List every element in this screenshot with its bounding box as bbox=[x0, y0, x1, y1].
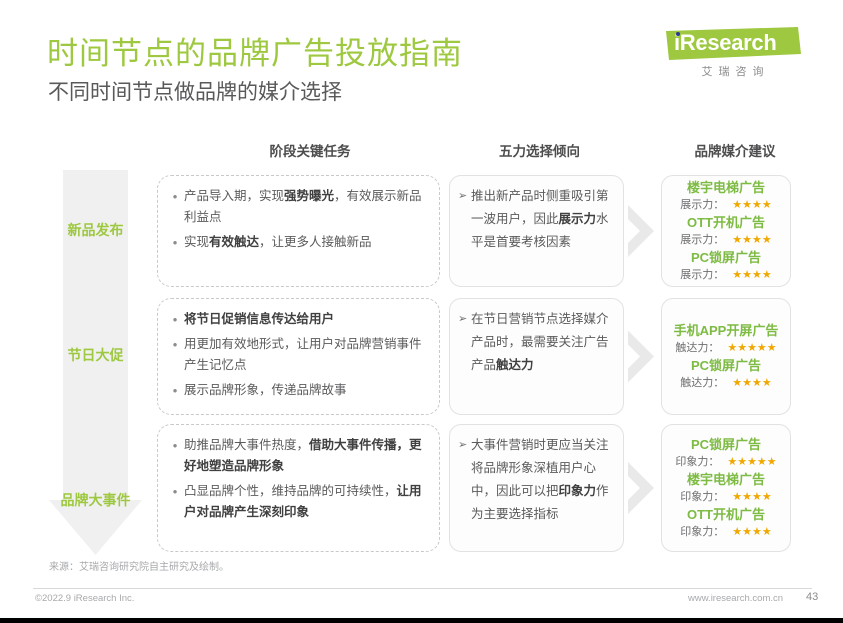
arrow-bullet-icon: ➢ bbox=[458, 308, 471, 331]
logo-dot-icon bbox=[676, 32, 680, 36]
media-box: 楼宇电梯广告展示力：★★★★OTT开机广告展示力：★★★★PC锁屏广告展示力：★… bbox=[661, 175, 791, 287]
task-bullet-text: 实现有效触达，让更多人接触新品 bbox=[184, 232, 427, 253]
star-rating-icon: ★★★★★ bbox=[727, 340, 776, 356]
media-rating-row: 触达力：★★★★★ bbox=[668, 340, 784, 356]
media-rating-row: 展示力：★★★★ bbox=[668, 267, 784, 283]
content-row: •助推品牌大事件热度，借助大事件传播，更好地塑造品牌形象•凸显品牌个性，维持品牌… bbox=[0, 424, 843, 552]
force-item: ➢大事件营销时更应当关注将品牌形象深植用户心中，因此可以把印象力作为主要选择指标 bbox=[458, 434, 613, 526]
task-bullet-item: •用更加有效地形式，让用户对品牌营销事件产生记忆点 bbox=[166, 334, 427, 376]
website-url: www.iresearch.com.cn bbox=[688, 593, 783, 604]
star-rating-icon: ★★★★ bbox=[732, 197, 771, 213]
media-rating-row: 展示力：★★★★ bbox=[668, 232, 784, 248]
media-product-name: PC锁屏广告 bbox=[668, 249, 784, 267]
task-bullet-item: •将节日促销信息传达给用户 bbox=[166, 309, 427, 330]
media-metric-label: 印象力： bbox=[680, 489, 724, 505]
force-item: ➢推出新产品时侧重吸引第一波用户，因此展示力水平是首要考核因素 bbox=[458, 185, 613, 254]
task-bullet-text: 用更加有效地形式，让用户对品牌营销事件产生记忆点 bbox=[184, 334, 427, 376]
task-bullet-text: 助推品牌大事件热度，借助大事件传播，更好地塑造品牌形象 bbox=[184, 435, 427, 477]
force-text: 推出新产品时侧重吸引第一波用户，因此展示力水平是首要考核因素 bbox=[471, 185, 613, 254]
chevron-right-icon bbox=[628, 331, 654, 383]
task-box: •助推品牌大事件热度，借助大事件传播，更好地塑造品牌形象•凸显品牌个性，维持品牌… bbox=[157, 424, 440, 552]
task-box: •产品导入期，实现强势曝光，有效展示新品利益点•实现有效触达，让更多人接触新品 bbox=[157, 175, 440, 287]
media-product-name: OTT开机广告 bbox=[668, 214, 784, 232]
bullet-dot-icon: • bbox=[166, 309, 184, 330]
star-rating-icon: ★★★★★ bbox=[727, 454, 776, 470]
force-box: ➢在节日营销节点选择媒介产品时，最需要关注广告产品触达力 bbox=[449, 298, 624, 415]
task-box: •将节日促销信息传达给用户•用更加有效地形式，让用户对品牌营销事件产生记忆点•展… bbox=[157, 298, 440, 415]
media-metric-label: 印象力： bbox=[675, 454, 719, 470]
logo-wordmark: iResearch bbox=[674, 29, 801, 57]
task-bullet-item: •助推品牌大事件热度，借助大事件传播，更好地塑造品牌形象 bbox=[166, 435, 427, 477]
star-rating-icon: ★★★★ bbox=[732, 489, 771, 505]
media-product-name: PC锁屏广告 bbox=[668, 436, 784, 454]
task-bullet-item: •产品导入期，实现强势曝光，有效展示新品利益点 bbox=[166, 186, 427, 228]
bullet-dot-icon: • bbox=[166, 232, 184, 253]
bullet-dot-icon: • bbox=[166, 186, 184, 207]
force-box: ➢推出新产品时侧重吸引第一波用户，因此展示力水平是首要考核因素 bbox=[449, 175, 624, 287]
task-bullet-item: •实现有效触达，让更多人接触新品 bbox=[166, 232, 427, 253]
star-rating-icon: ★★★★ bbox=[732, 267, 771, 283]
star-rating-icon: ★★★★ bbox=[732, 524, 771, 540]
source-note: 来源：艾瑞咨询研究院自主研究及绘制。 bbox=[49, 558, 229, 573]
media-box: 手机APP开屏广告触达力：★★★★★PC锁屏广告触达力：★★★★ bbox=[661, 298, 791, 415]
content-row: •将节日促销信息传达给用户•用更加有效地形式，让用户对品牌营销事件产生记忆点•展… bbox=[0, 298, 843, 415]
media-product-name: PC锁屏广告 bbox=[668, 357, 784, 375]
page-title: 时间节点的品牌广告投放指南 bbox=[47, 28, 463, 73]
bullet-dot-icon: • bbox=[166, 481, 184, 502]
media-product-name: 手机APP开屏广告 bbox=[668, 322, 784, 340]
media-rating-row: 展示力：★★★★ bbox=[668, 197, 784, 213]
arrow-bullet-icon: ➢ bbox=[458, 434, 471, 457]
logo-chinese-name: 艾瑞咨询 bbox=[672, 63, 799, 79]
media-rating-row: 触达力：★★★★ bbox=[668, 375, 784, 391]
task-bullet-text: 凸显品牌个性，维持品牌的可持续性，让用户对品牌产生深刻印象 bbox=[184, 481, 427, 523]
media-metric-label: 展示力： bbox=[680, 267, 724, 283]
media-metric-label: 触达力： bbox=[675, 340, 719, 356]
bullet-dot-icon: • bbox=[166, 334, 184, 355]
task-bullet-text: 将节日促销信息传达给用户 bbox=[184, 309, 427, 330]
column-header-media: 品牌媒介建议 bbox=[650, 140, 820, 160]
chevron-right-icon bbox=[628, 462, 654, 514]
force-text: 大事件营销时更应当关注将品牌形象深植用户心中，因此可以把印象力作为主要选择指标 bbox=[471, 434, 613, 526]
task-bullet-text: 展示品牌形象，传递品牌故事 bbox=[184, 380, 427, 401]
chevron-right-icon bbox=[628, 205, 654, 257]
column-header-forces: 五力选择倾向 bbox=[452, 140, 627, 160]
media-metric-label: 触达力： bbox=[680, 375, 724, 391]
task-bullet-text: 产品导入期，实现强势曝光，有效展示新品利益点 bbox=[184, 186, 427, 228]
content-row: •产品导入期，实现强势曝光，有效展示新品利益点•实现有效触达，让更多人接触新品 … bbox=[0, 175, 843, 287]
bullet-dot-icon: • bbox=[166, 435, 184, 456]
arrow-bullet-icon: ➢ bbox=[458, 185, 471, 208]
iresearch-logo: iResearch 艾瑞咨询 bbox=[666, 27, 801, 83]
footer-divider bbox=[33, 588, 812, 589]
force-box: ➢大事件营销时更应当关注将品牌形象深植用户心中，因此可以把印象力作为主要选择指标 bbox=[449, 424, 624, 552]
media-box: PC锁屏广告印象力：★★★★★楼宇电梯广告印象力：★★★★OTT开机广告印象力：… bbox=[661, 424, 791, 552]
force-text: 在节日营销节点选择媒介产品时，最需要关注广告产品触达力 bbox=[471, 308, 613, 377]
media-metric-label: 展示力： bbox=[680, 197, 724, 213]
bottom-bar bbox=[0, 618, 843, 623]
slide-canvas: 时间节点的品牌广告投放指南 不同时间节点做品牌的媒介选择 iResearch 艾… bbox=[0, 0, 843, 623]
page-number: 43 bbox=[806, 591, 818, 603]
media-product-name: 楼宇电梯广告 bbox=[668, 471, 784, 489]
task-bullet-item: •展示品牌形象，传递品牌故事 bbox=[166, 380, 427, 401]
media-product-name: 楼宇电梯广告 bbox=[668, 179, 784, 197]
media-metric-label: 印象力： bbox=[680, 524, 724, 540]
star-rating-icon: ★★★★ bbox=[732, 375, 771, 391]
star-rating-icon: ★★★★ bbox=[732, 232, 771, 248]
bullet-dot-icon: • bbox=[166, 380, 184, 401]
media-product-name: OTT开机广告 bbox=[668, 506, 784, 524]
task-bullet-item: •凸显品牌个性，维持品牌的可持续性，让用户对品牌产生深刻印象 bbox=[166, 481, 427, 523]
copyright-text: ©2022.9 iResearch Inc. bbox=[35, 593, 134, 604]
force-item: ➢在节日营销节点选择媒介产品时，最需要关注广告产品触达力 bbox=[458, 308, 613, 377]
media-rating-row: 印象力：★★★★ bbox=[668, 524, 784, 540]
page-subtitle: 不同时间节点做品牌的媒介选择 bbox=[48, 76, 342, 106]
media-metric-label: 展示力： bbox=[680, 232, 724, 248]
media-rating-row: 印象力：★★★★ bbox=[668, 489, 784, 505]
column-header-tasks: 阶段关键任务 bbox=[180, 140, 440, 160]
media-rating-row: 印象力：★★★★★ bbox=[668, 454, 784, 470]
